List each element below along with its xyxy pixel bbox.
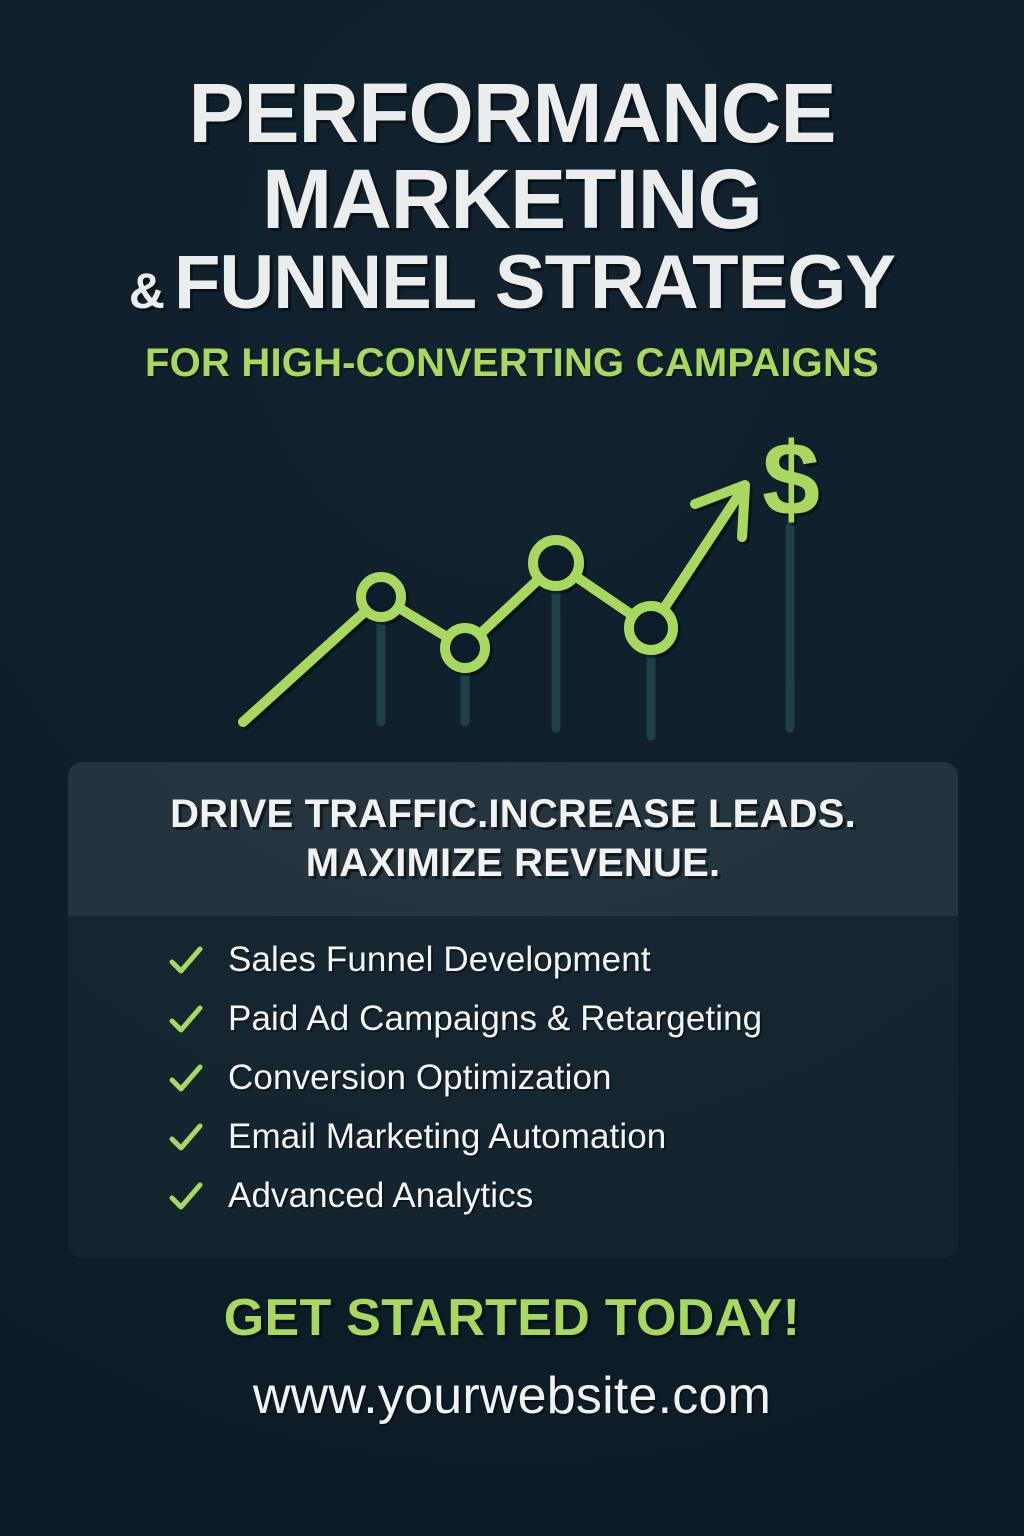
chart-marker-1 bbox=[361, 577, 401, 617]
headline-line-3: FUNNEL STRATEGY bbox=[174, 248, 895, 319]
headline-line-2: MARKETING bbox=[0, 160, 1024, 238]
chart-marker-2 bbox=[445, 628, 485, 668]
list-item: Email Marketing Automation bbox=[168, 1107, 958, 1166]
footer-block: GET STARTED TODAY! www.yourwebsite.com bbox=[0, 1288, 1024, 1426]
headline-line-3-row: & FUNNEL STRATEGY bbox=[0, 248, 1024, 319]
poster-canvas: PERFORMANCE MARKETING & FUNNEL STRATEGY … bbox=[0, 0, 1024, 1536]
list-item: Sales Funnel Development bbox=[168, 930, 958, 989]
growth-line-icon bbox=[243, 490, 742, 722]
cta-text[interactable]: GET STARTED TODAY! bbox=[0, 1288, 1024, 1348]
ampersand: & bbox=[129, 268, 164, 315]
list-item: Conversion Optimization bbox=[168, 1048, 958, 1107]
check-icon bbox=[168, 1119, 204, 1155]
service-label: Advanced Analytics bbox=[228, 1176, 533, 1216]
list-item: Advanced Analytics bbox=[168, 1166, 958, 1225]
service-label: Conversion Optimization bbox=[228, 1058, 612, 1098]
tagline-line-2: MAXIMIZE REVENUE. bbox=[306, 841, 721, 886]
chart-marker-3 bbox=[533, 540, 579, 586]
headline-block: PERFORMANCE MARKETING & FUNNEL STRATEGY … bbox=[0, 74, 1024, 386]
tagline-band: DRIVE TRAFFIC.INCREASE LEADS. MAXIMIZE R… bbox=[68, 762, 958, 916]
services-list: Sales Funnel Development Paid Ad Campaig… bbox=[68, 930, 958, 1225]
dollar-sign-icon: $ bbox=[762, 422, 820, 538]
website-url[interactable]: www.yourwebsite.com bbox=[0, 1366, 1024, 1426]
chart-marker-4 bbox=[629, 606, 673, 650]
check-icon bbox=[168, 1178, 204, 1214]
growth-chart-graphic: $ bbox=[0, 420, 1024, 760]
list-item: Paid Ad Campaigns & Retargeting bbox=[168, 989, 958, 1048]
service-label: Sales Funnel Development bbox=[228, 940, 651, 980]
check-icon bbox=[168, 1060, 204, 1096]
service-label: Email Marketing Automation bbox=[228, 1117, 666, 1157]
headline-line-1: PERFORMANCE bbox=[0, 74, 1024, 152]
check-icon bbox=[168, 942, 204, 978]
service-label: Paid Ad Campaigns & Retargeting bbox=[228, 999, 762, 1039]
tagline-line-1: DRIVE TRAFFIC.INCREASE LEADS. bbox=[170, 792, 856, 837]
check-icon bbox=[168, 1001, 204, 1037]
headline-subtitle: FOR HIGH-CONVERTING CAMPAIGNS bbox=[0, 341, 1024, 386]
